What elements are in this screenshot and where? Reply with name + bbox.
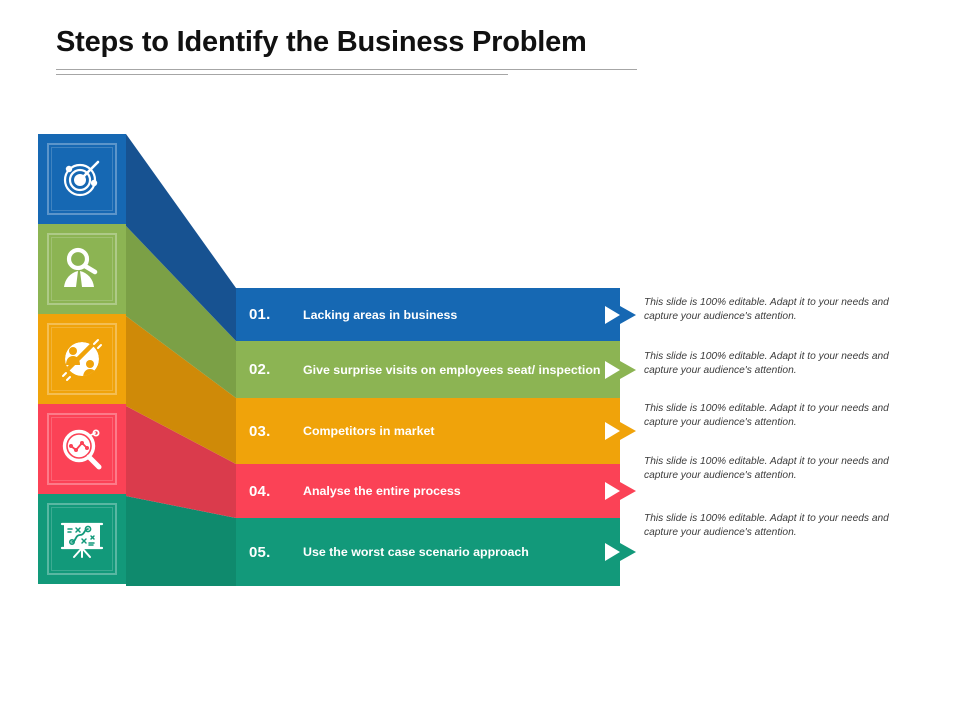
title-divider-short (56, 74, 508, 75)
title-block: Steps to Identify the Business Problem (56, 24, 756, 60)
person-magnifier-icon (58, 245, 106, 293)
radar-target-icon (58, 155, 106, 203)
page-title: Steps to Identify the Business Problem (56, 24, 756, 60)
title-divider-long (56, 69, 637, 70)
step-label: Lacking areas in business (303, 307, 620, 323)
icon-stack (38, 134, 126, 586)
competitors-circle-icon (58, 335, 106, 383)
bar-arrow-icon (620, 422, 636, 440)
graph-magnifier-icon (58, 425, 106, 473)
bar-arrow-icon (620, 543, 636, 561)
icon-tile-5[interactable] (38, 494, 126, 584)
step-bar-5[interactable]: 05. Use the worst case scenario approach (236, 518, 620, 586)
icon-tile-2[interactable] (38, 224, 126, 314)
connector-band-3 (126, 316, 236, 464)
step-label: Use the worst case scenario approach (303, 544, 620, 560)
description-4: This slide is 100% editable. Adapt it to… (644, 455, 914, 482)
icon-tile-1[interactable] (38, 134, 126, 224)
step-label: Analyse the entire process (303, 483, 620, 499)
step-bar-1[interactable]: 01. Lacking areas in business (236, 288, 620, 341)
bar-notch (605, 306, 620, 324)
connector-band-5 (126, 496, 236, 586)
bar-notch (605, 361, 620, 379)
step-number: 01. (249, 306, 303, 323)
icon-tile-4[interactable] (38, 404, 126, 494)
bar-notch (605, 422, 620, 440)
step-number: 02. (249, 361, 303, 378)
step-bar-3[interactable]: 03. Competitors in market (236, 398, 620, 464)
step-number: 03. (249, 423, 303, 440)
icon-tile-3[interactable] (38, 314, 126, 404)
connector-band-4 (126, 406, 236, 518)
description-3: This slide is 100% editable. Adapt it to… (644, 402, 914, 429)
bar-arrow-icon (620, 306, 636, 324)
connector-band-2 (126, 226, 236, 398)
bar-arrow-icon (620, 361, 636, 379)
connector-band-1 (126, 134, 236, 341)
bar-notch (605, 482, 620, 500)
description-2: This slide is 100% editable. Adapt it to… (644, 350, 914, 377)
step-number: 04. (249, 483, 303, 500)
step-bar-4[interactable]: 04. Analyse the entire process (236, 464, 620, 518)
step-label: Give surprise visits on employees seat/ … (303, 362, 620, 378)
step-label: Competitors in market (303, 423, 620, 439)
description-1: This slide is 100% editable. Adapt it to… (644, 296, 914, 323)
strategy-board-icon (58, 515, 106, 563)
slide-canvas: Steps to Identify the Business Problem (0, 0, 960, 720)
description-5: This slide is 100% editable. Adapt it to… (644, 512, 914, 539)
step-bar-2[interactable]: 02. Give surprise visits on employees se… (236, 341, 620, 398)
bar-arrow-icon (620, 482, 636, 500)
step-number: 05. (249, 544, 303, 561)
bar-notch (605, 543, 620, 561)
